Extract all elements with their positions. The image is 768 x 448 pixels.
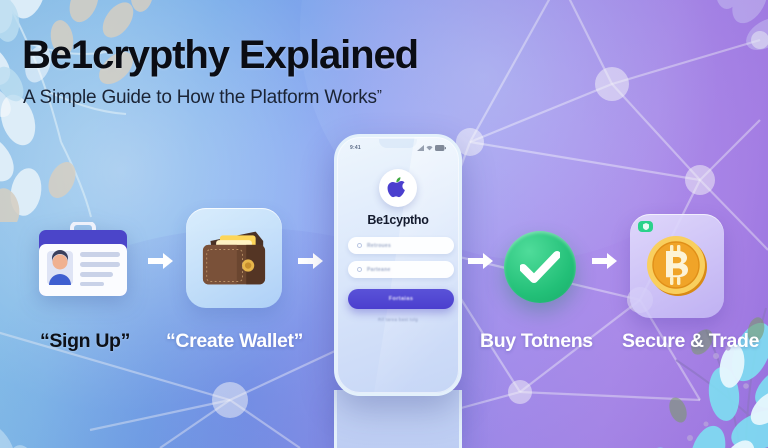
page-subtitle: A Simple Guide to How the Platform Works… <box>23 88 382 107</box>
user-icon <box>357 243 362 248</box>
infographic-banner: Be1crypthy Explained A Simple Guide to H… <box>0 0 768 448</box>
arrow-right-icon <box>590 250 620 272</box>
wallet-tile <box>186 208 282 308</box>
username-field[interactable]: Retroues <box>348 237 454 254</box>
checkmark-icon <box>520 251 560 283</box>
password-field[interactable]: Parteane <box>348 261 454 278</box>
caption-secure-trade: Secure & Trade <box>622 330 759 353</box>
username-placeholder: Retroues <box>367 243 391 249</box>
wallet-icon <box>197 226 271 290</box>
caption-buy-tokens: Buy Totnens <box>480 330 593 353</box>
arrow-right-icon <box>466 250 496 272</box>
caption-create-wallet: “Create Wallet” <box>166 330 303 353</box>
app-name: Be1cyptho <box>337 213 459 227</box>
bitcoin-tile <box>630 214 724 318</box>
id-card-icon <box>36 222 130 300</box>
caption-sign-up: “Sign Up” <box>40 330 130 353</box>
login-button-label: Fortaias <box>389 296 414 302</box>
apple-logo-icon <box>387 176 409 200</box>
phone-mockup: 9:41 Be1cyptho Retroues Parteane Fortaia… <box>334 134 462 396</box>
shield-check-icon <box>643 223 649 230</box>
check-circle-icon <box>504 231 576 303</box>
arrow-right-icon <box>146 250 176 272</box>
login-button[interactable]: Fortaias <box>348 289 454 309</box>
page-title: Be1crypthy Explained <box>22 35 418 75</box>
subtitle-text: A Simple Guide to How the Platform Works <box>23 87 377 108</box>
arrow-right-icon <box>296 250 326 272</box>
password-placeholder: Parteane <box>367 267 391 273</box>
subtitle-quote-mark: ” <box>377 87 382 104</box>
status-badge <box>638 221 653 232</box>
status-bar-time: 9:41 <box>350 145 361 151</box>
app-fineprint: Rif tarea bast tolg <box>337 317 459 322</box>
lock-icon <box>357 267 362 272</box>
app-logo <box>379 169 417 207</box>
bitcoin-coin-icon <box>644 233 710 299</box>
phone-body-lower <box>334 390 462 448</box>
